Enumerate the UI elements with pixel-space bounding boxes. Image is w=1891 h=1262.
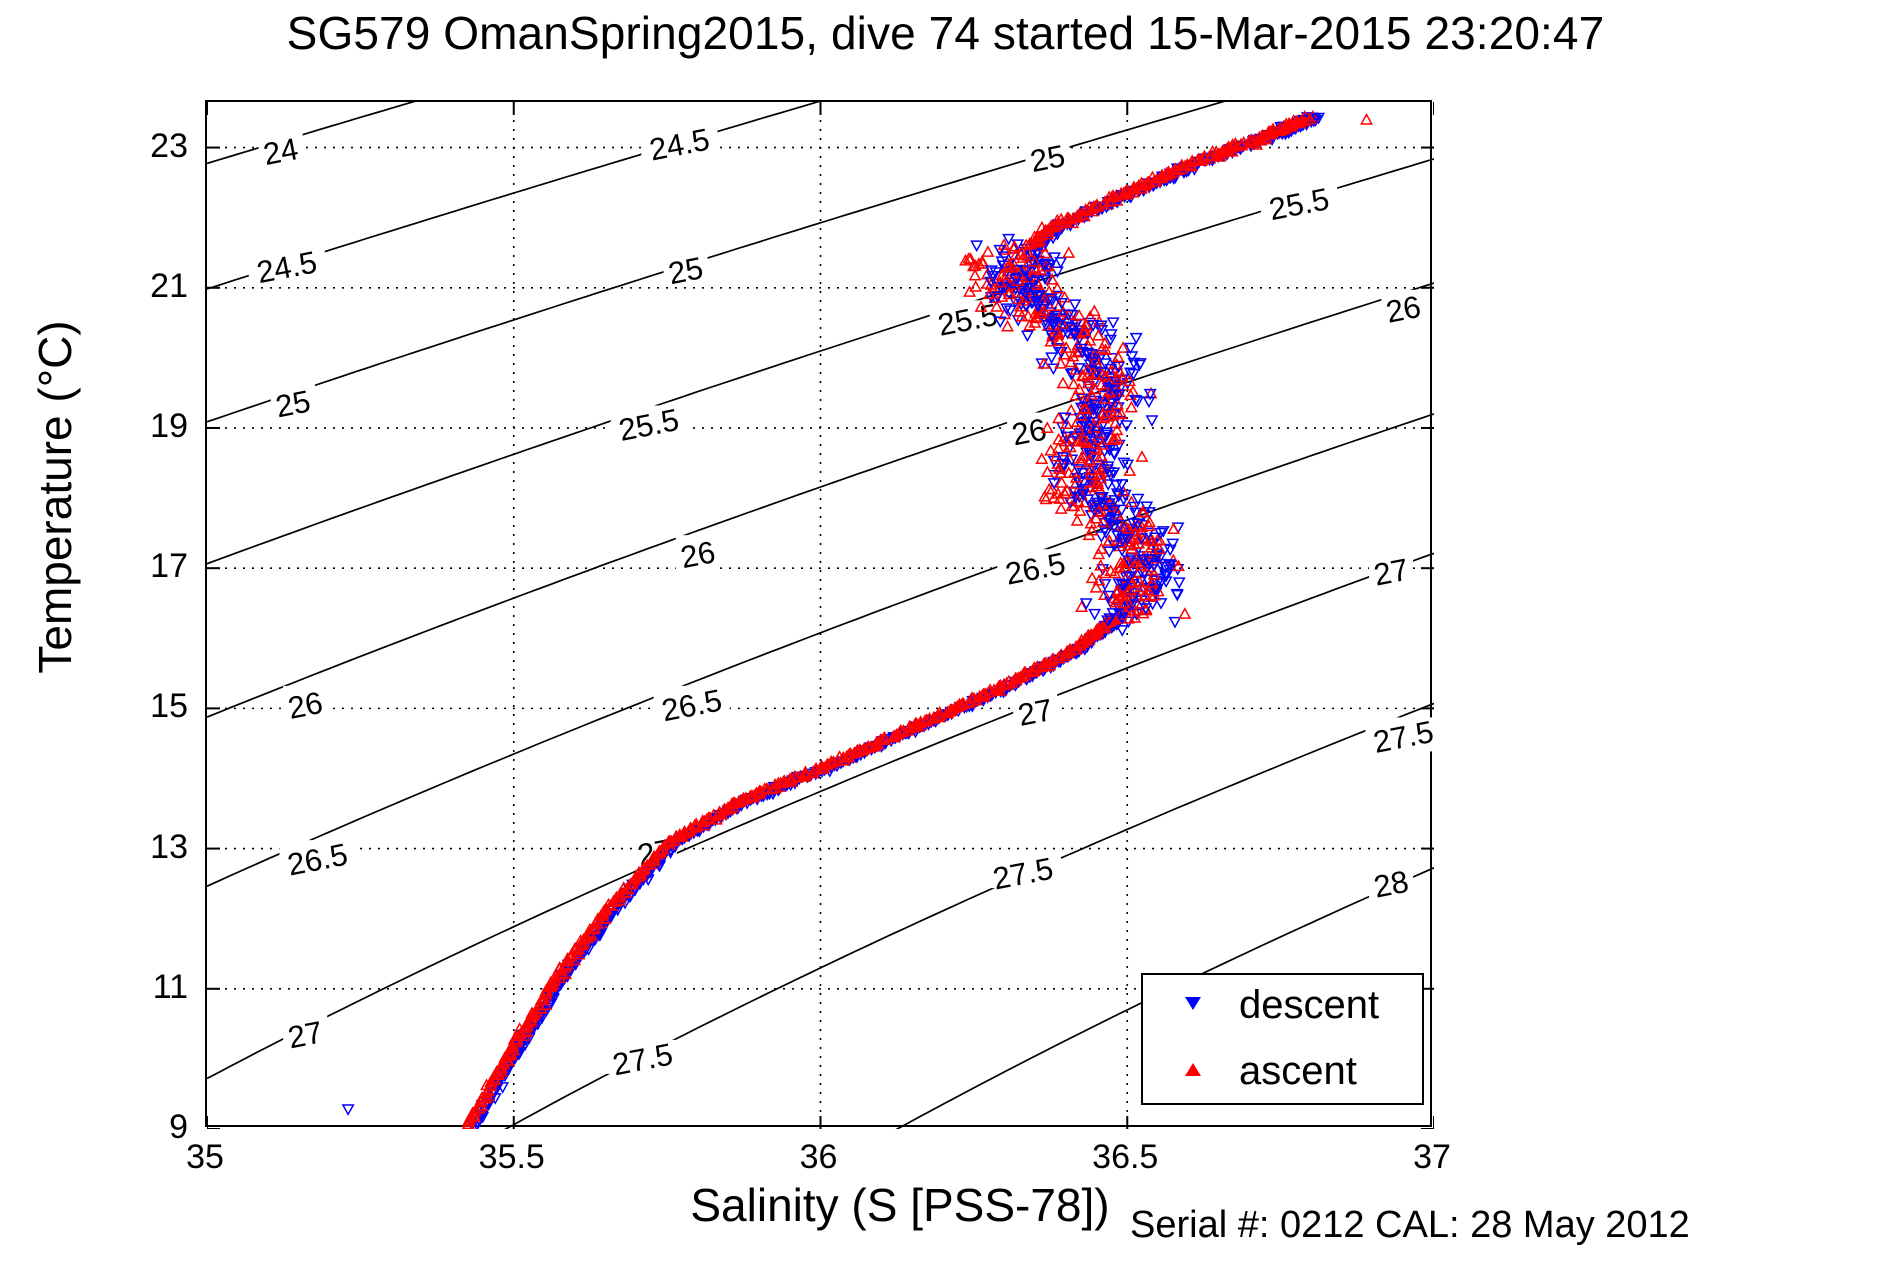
y-tick-label: 19	[68, 409, 188, 443]
triangle-up-icon	[1185, 1063, 1203, 1081]
figure-root: SG579 OmanSpring2015, dive 74 started 15…	[0, 0, 1891, 1262]
svg-text:26: 26	[285, 685, 326, 726]
serial-cal-text: Serial #: 0212 CAL: 28 May 2012	[1130, 1204, 1890, 1247]
y-axis-label: Temperature (°C)	[28, 177, 82, 817]
y-tick-label: 17	[68, 549, 188, 583]
isopycnal-labels: 2424.524.525252525.525.525.52626262626.5…	[249, 122, 1434, 1083]
svg-text:25: 25	[273, 383, 314, 424]
legend-label-descent: descent	[1239, 979, 1379, 1031]
y-tick-label: 11	[68, 970, 188, 1004]
x-tick-label: 36.5	[1045, 1140, 1205, 1174]
svg-text:24: 24	[260, 131, 301, 172]
svg-text:25: 25	[1027, 138, 1068, 179]
legend[interactable]: descent ascent	[1141, 973, 1424, 1105]
svg-text:26: 26	[678, 534, 719, 575]
chart-title: SG579 OmanSpring2015, dive 74 started 15…	[0, 6, 1891, 60]
legend-entry-descent[interactable]: descent	[1143, 977, 1426, 1037]
svg-text:25: 25	[665, 250, 706, 291]
svg-text:28: 28	[1371, 864, 1412, 905]
x-tick-label: 36	[739, 1140, 899, 1174]
legend-label-ascent: ascent	[1239, 1045, 1357, 1097]
y-tick-label: 9	[68, 1110, 188, 1144]
triangle-down-icon	[1185, 997, 1203, 1015]
y-tick-label: 21	[68, 269, 188, 303]
svg-text:27: 27	[1015, 692, 1056, 733]
y-tick-label: 15	[68, 689, 188, 723]
x-tick-label: 37	[1352, 1140, 1512, 1174]
x-tick-label: 35	[125, 1140, 285, 1174]
svg-text:27: 27	[1371, 552, 1412, 593]
y-tick-label: 13	[68, 830, 188, 864]
svg-text:27: 27	[285, 1014, 326, 1055]
y-tick-label: 23	[68, 129, 188, 163]
legend-entry-ascent[interactable]: ascent	[1143, 1043, 1426, 1103]
x-tick-label: 35.5	[432, 1140, 592, 1174]
svg-text:26: 26	[1383, 289, 1424, 330]
